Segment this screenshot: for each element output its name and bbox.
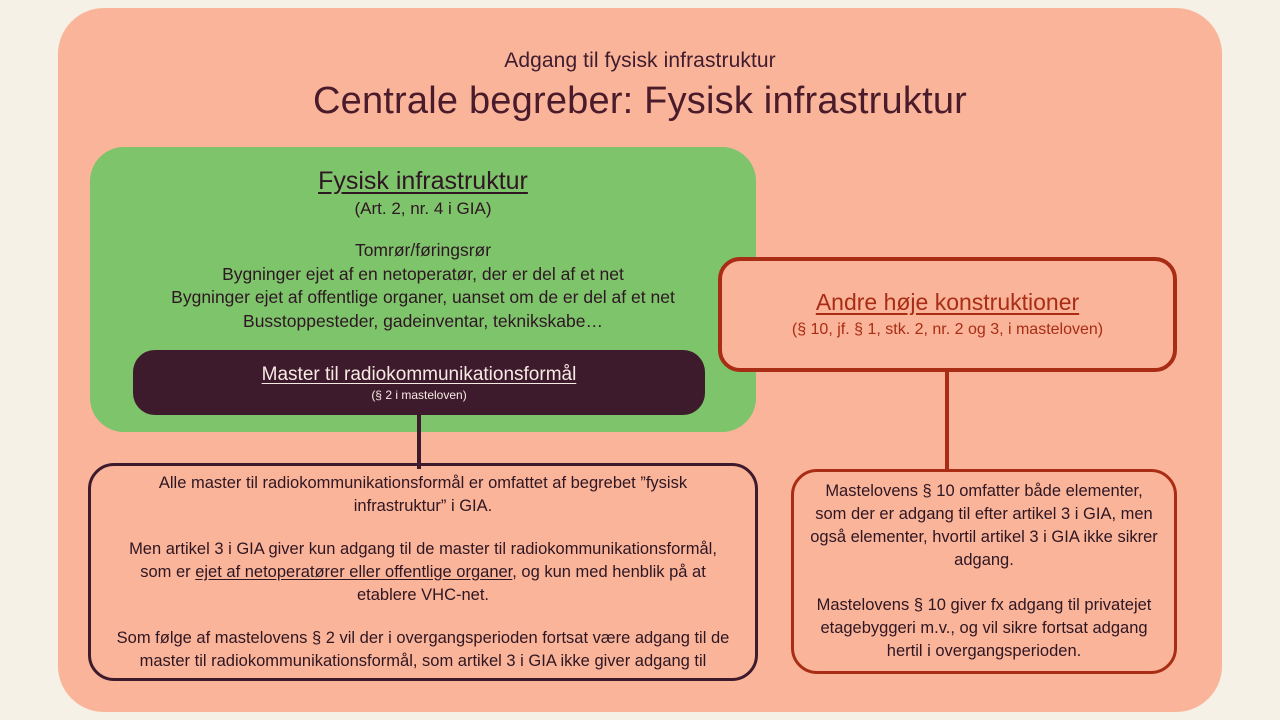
dark-box-title: Master til radiokommunikationsformål [262, 363, 577, 387]
bottom-right-note-box: Mastelovens § 10 omfatter både elementer… [791, 469, 1177, 674]
bottom-right-paragraph-1: Mastelovens § 10 omfatter både elementer… [809, 480, 1159, 572]
green-box-item: Busstoppesteder, gadeinventar, teknikska… [90, 310, 756, 334]
slide-canvas: Adgang til fysisk infrastruktur Centrale… [0, 0, 1280, 720]
green-box-item: Tomrør/føringsrør [90, 239, 756, 263]
red-box-subtitle: (§ 10, jf. § 1, stk. 2, nr. 2 og 3, i ma… [722, 321, 1173, 339]
bottom-left-note-box: Alle master til radiokommunikationsformå… [88, 463, 758, 681]
bottom-left-paragraph-1: Alle master til radiokommunikationsformå… [113, 472, 733, 518]
bottom-left-paragraph-2: Men artikel 3 i GIA giver kun adgang til… [113, 538, 733, 607]
red-other-structures-box: Andre høje konstruktioner (§ 10, jf. § 1… [718, 257, 1177, 372]
red-box-title: Andre høje konstruktioner [722, 289, 1173, 316]
dark-masts-box: Master til radiokommunikationsformål (§ … [133, 350, 705, 415]
page-title: Centrale begreber: Fysisk infrastruktur [0, 80, 1280, 123]
bottom-right-paragraph-2: Mastelovens § 10 giver fx adgang til pri… [809, 594, 1159, 663]
bl-p2-underlined: ejet af netoperatører eller offentlige o… [195, 563, 512, 581]
dark-box-subtitle: (§ 2 i masteloven) [371, 387, 466, 403]
green-box-title: Fysisk infrastruktur [90, 167, 756, 196]
slide-eyebrow: Adgang til fysisk infrastruktur [0, 49, 1280, 73]
green-box-item: Bygninger ejet af en netoperatør, der er… [90, 263, 756, 287]
green-box-item: Bygninger ejet af offentlige organer, ua… [90, 286, 756, 310]
connector-dark-vertical [417, 407, 421, 469]
bottom-left-paragraph-3: Som følge af mastelovens § 2 vil der i o… [113, 627, 733, 673]
connector-red-vertical [945, 370, 949, 472]
green-box-item-list: Tomrør/føringsrør Bygninger ejet af en n… [90, 239, 756, 333]
green-box-subtitle: (Art. 2, nr. 4 i GIA) [90, 199, 756, 219]
